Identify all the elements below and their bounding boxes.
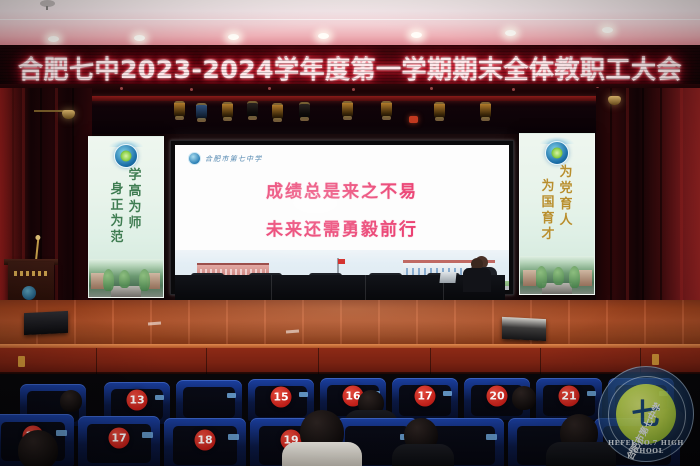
seat[interactable]: 17 <box>78 416 160 466</box>
banner-char: 人 <box>560 214 573 227</box>
ceiling-downlight <box>602 27 613 33</box>
audience-person-head <box>512 386 536 410</box>
seat-number: 18 <box>195 429 216 450</box>
banner-char: 为 <box>110 215 123 228</box>
stage-power-outlet <box>652 354 659 365</box>
banner-char: 为 <box>129 201 142 214</box>
audience-person-head <box>60 390 82 412</box>
seat-tag <box>228 434 239 440</box>
slide-logo-text: 合肥市第七中学 <box>205 154 262 164</box>
banner-char: 师 <box>129 217 142 230</box>
banner-char: 学 <box>129 169 142 182</box>
seat-number: 17 <box>415 385 436 406</box>
banner-char: 才 <box>541 228 554 241</box>
ceiling-seam <box>0 19 700 20</box>
projection-screen: 合肥市第七中学 成绩总是来之不易 未来还需勇毅前行 <box>175 145 509 290</box>
sprinkler-stem <box>46 6 48 10</box>
seat[interactable]: 17 <box>392 378 458 420</box>
school-logo-icon <box>114 144 138 168</box>
audience-person-body <box>282 442 362 466</box>
seat-tag <box>587 391 596 396</box>
banner-rail-dots <box>0 85 700 93</box>
banner-column-2: 为 国 育 才 <box>541 180 554 262</box>
stage-spotlight-icon <box>434 102 445 119</box>
banner-char: 身 <box>110 183 123 196</box>
slide-line-2: 未来还需勇毅前行 <box>266 215 418 240</box>
stage-spotlight-icon <box>196 103 207 120</box>
stage-apron <box>0 348 700 374</box>
seat-number: 20 <box>487 385 508 406</box>
school-logo-icon <box>22 286 36 300</box>
seat-tag <box>486 434 497 440</box>
seat-tag <box>56 430 67 436</box>
seat-tag <box>155 395 164 400</box>
seat[interactable]: 18 <box>164 418 246 466</box>
seat[interactable] <box>176 380 242 422</box>
seat-tag <box>299 392 308 397</box>
stage-spotlight-icon <box>222 102 233 119</box>
banner-columns: 学 高 为 师 身 正 为 范 <box>89 169 163 265</box>
right-vertical-banner: 为 党 育 人 为 国 育 才 <box>519 133 595 295</box>
stage-spotlight-icon <box>381 101 392 118</box>
left-vertical-banner: 学 高 为 师 身 正 为 范 <box>88 136 164 298</box>
seat[interactable]: 21 <box>536 378 602 420</box>
banner-campus-photo <box>520 256 594 294</box>
banner-campus-photo <box>89 259 163 297</box>
stage-monitor-speaker <box>502 317 546 341</box>
seat-number: 15 <box>271 386 292 407</box>
auditorium-photo: 合肥七中2023-2024学年度第一学期期末全体教职工大会 <box>0 0 700 466</box>
banner-char: 正 <box>110 199 123 212</box>
audience-person-body <box>392 444 454 466</box>
seat-tag <box>443 391 452 396</box>
stage-spotlight-icon <box>272 103 283 120</box>
seat-number: 21 <box>559 385 580 406</box>
watermark-glyph: 七 <box>631 400 660 429</box>
stage-spotlight-icon <box>342 101 353 118</box>
banner-char: 范 <box>110 231 123 244</box>
slide-line-1: 成绩总是来之不易 <box>266 177 418 202</box>
banner-char: 育 <box>541 212 554 225</box>
banner-char: 为 <box>541 180 554 193</box>
stage-spotlight-icon <box>480 102 491 119</box>
ceiling-downlight <box>48 36 59 42</box>
led-banner-text: 合肥七中2023-2024学年度第一学期期末全体教职工大会 <box>0 49 700 87</box>
school-logo-icon <box>188 152 201 165</box>
ceiling-downlight <box>318 33 329 39</box>
seat-tag <box>227 393 236 398</box>
audience-seating: 13 15 16 17 20 21 <box>0 374 700 466</box>
watermark-core: 七 <box>616 384 676 444</box>
podium-gold-lettering <box>14 271 48 276</box>
laptop-icon <box>439 272 456 283</box>
stage-spotlight-icon <box>247 101 258 118</box>
banner-char: 为 <box>560 166 573 179</box>
banner-char: 党 <box>560 182 573 195</box>
watermark-english-name: HEFEI NO.7 HIGH SCHOOL <box>599 439 693 455</box>
slide-text-block: 成绩总是来之不易 未来还需勇毅前行 <box>175 177 509 240</box>
banner-char: 高 <box>129 185 142 198</box>
seat[interactable]: 15 <box>248 379 314 421</box>
audience-person-head <box>18 430 58 466</box>
truss-indicator-lamp <box>409 116 418 123</box>
stage-floor-reflection <box>0 300 700 346</box>
ceiling-downlight <box>228 34 239 40</box>
stage-spotlight-icon <box>299 102 310 119</box>
ceiling-downlight <box>505 30 516 36</box>
ceiling-downlight <box>134 35 145 41</box>
slide-logo: 合肥市第七中学 <box>188 152 262 165</box>
banner-column-1: 为 党 育 人 <box>560 166 573 262</box>
banner-char: 育 <box>560 198 573 211</box>
stage-power-outlet <box>18 356 25 367</box>
seat-number: 17 <box>109 427 130 448</box>
school-logo-icon <box>545 141 569 165</box>
stage-spotlight-icon <box>174 101 185 118</box>
seat-number: 13 <box>127 389 148 410</box>
school-watermark-logo: 七 合肥市第七中学 HEFEI NO.7 HIGH SCHOOL <box>598 366 694 462</box>
banner-char: 国 <box>541 196 554 209</box>
ceiling <box>0 0 700 50</box>
banner-column-1: 学 高 为 师 <box>129 169 142 265</box>
seat-tag <box>142 432 153 438</box>
ceiling-downlight <box>411 32 422 38</box>
banner-column-2: 身 正 为 范 <box>110 183 123 265</box>
banner-columns: 为 党 育 人 为 国 育 才 <box>520 166 594 262</box>
operator-person <box>463 258 491 292</box>
stage-monitor-speaker <box>24 311 68 335</box>
